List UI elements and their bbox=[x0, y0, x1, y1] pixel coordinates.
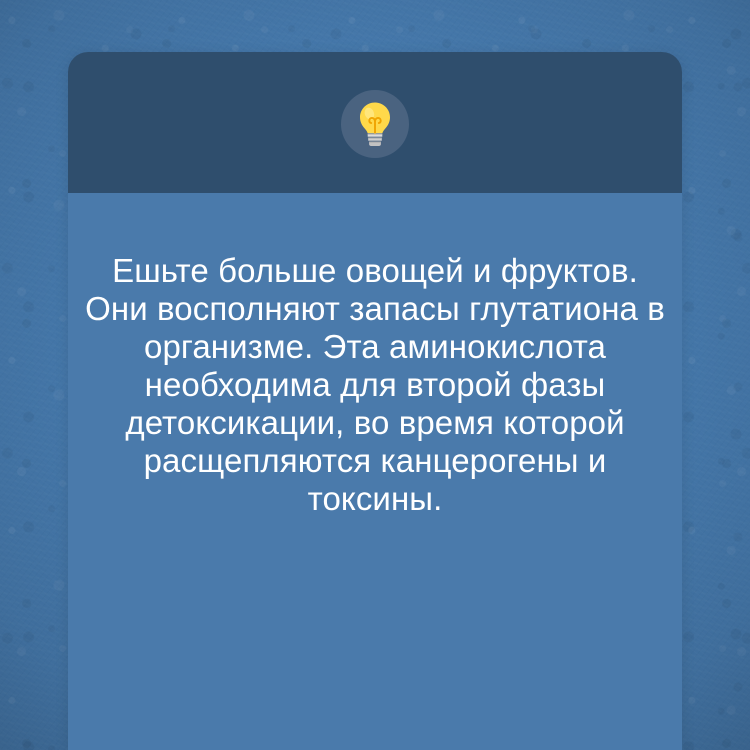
tip-text: Ешьте больше овощей и фруктов. Они воспо… bbox=[82, 193, 668, 518]
tip-card-header bbox=[68, 52, 682, 193]
tip-card-body: Ешьте больше овощей и фруктов. Они воспо… bbox=[68, 193, 682, 750]
tip-card: Ешьте больше овощей и фруктов. Они воспо… bbox=[68, 52, 682, 750]
screenshot-canvas: Ешьте больше овощей и фруктов. Они воспо… bbox=[0, 0, 750, 750]
lightbulb-icon bbox=[356, 101, 394, 147]
icon-badge bbox=[341, 90, 409, 158]
